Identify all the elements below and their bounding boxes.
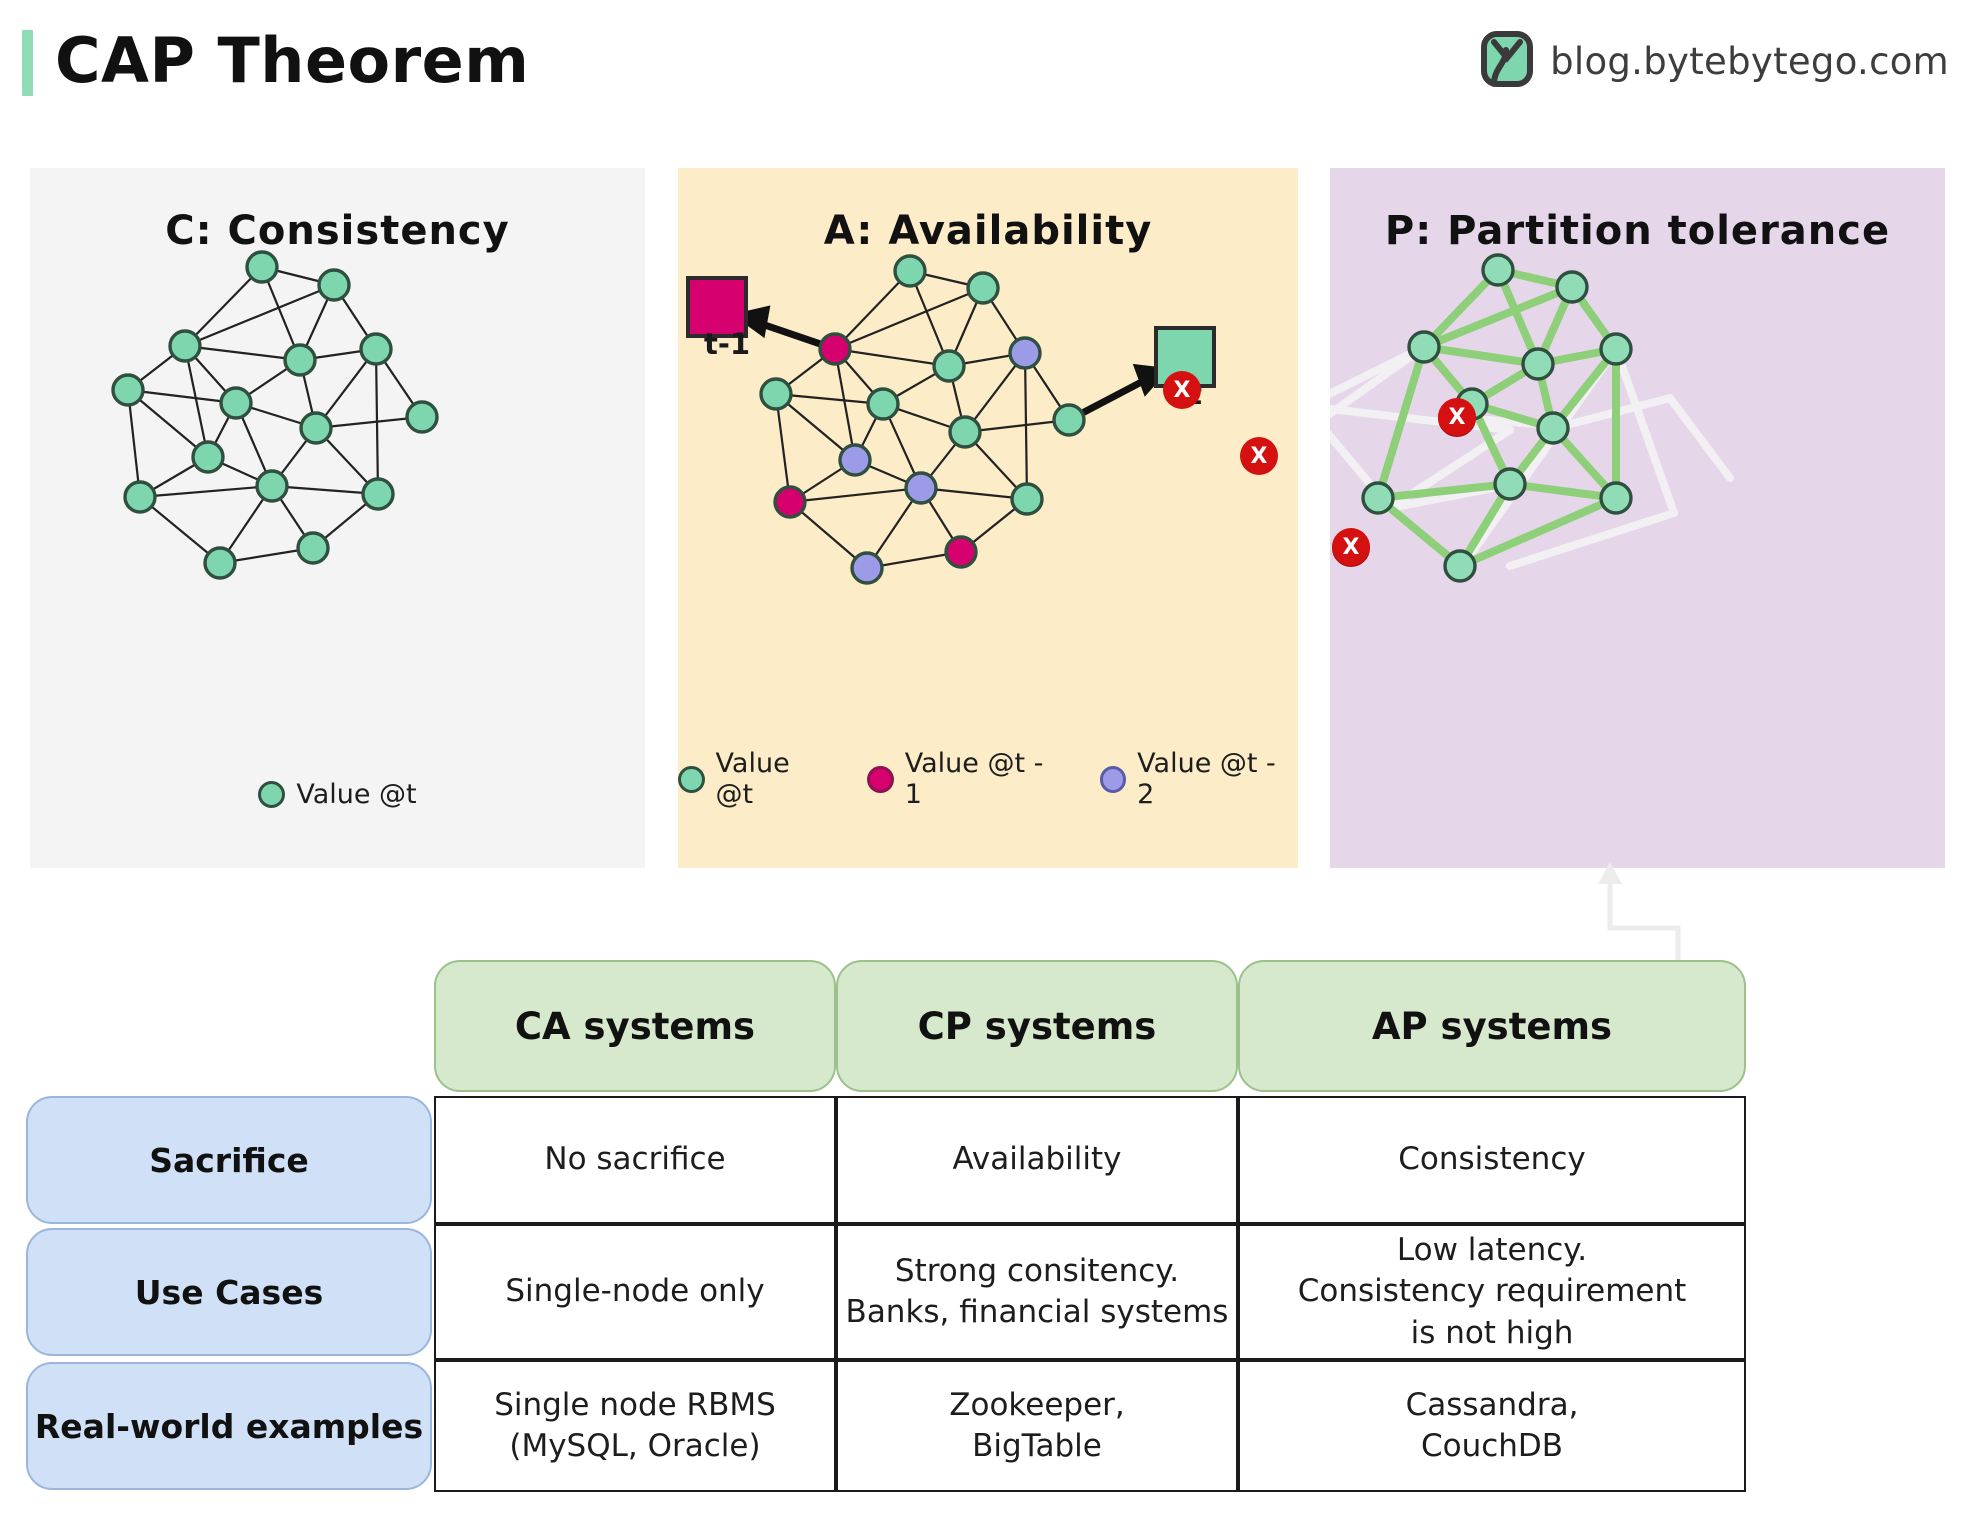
legend-dot-value-t-minus-2 <box>1100 766 1127 793</box>
panel-consistency: C: Consistency <box>30 168 645 868</box>
row-label-text: Use Cases <box>135 1273 323 1312</box>
page-header: CAP Theorem blog.bytebytego.com <box>0 0 1975 120</box>
cell-text: Consistency <box>1398 1139 1585 1180</box>
legend-dot-value-t <box>258 781 285 808</box>
fault-marker-x: X <box>1332 528 1370 566</box>
fault-marker-x: X <box>1240 437 1278 475</box>
column-header-cp: CP systems <box>836 960 1238 1092</box>
cell-sacrifice-ap: Consistency <box>1238 1096 1746 1224</box>
comparison-matrix: CA systems CP systems AP systems Sacrifi… <box>20 960 1960 1520</box>
panel-availability: A: Availability <box>678 168 1298 868</box>
cell-examples-ap: Cassandra,CouchDB <box>1238 1360 1746 1492</box>
legend-dot-value-t-minus-1 <box>867 766 894 793</box>
cell-sacrifice-cp: Availability <box>836 1096 1238 1224</box>
cell-use-cases-ca: Single-node only <box>434 1224 836 1360</box>
legend-item: Value @t <box>258 779 416 810</box>
cell-text: Low latency.Consistency requirementis no… <box>1298 1230 1687 1354</box>
brand-block: blog.bytebytego.com <box>1480 30 1949 92</box>
column-header-label: AP systems <box>1372 1005 1612 1048</box>
brand-label: blog.bytebytego.com <box>1550 40 1949 83</box>
cell-examples-cp: Zookeeper,BigTable <box>836 1360 1238 1492</box>
cell-text: Availability <box>953 1139 1122 1180</box>
page-title: CAP Theorem <box>55 22 529 100</box>
row-label-real-world-examples: Real-world examples <box>26 1362 432 1490</box>
title-accent-bar <box>22 30 33 96</box>
consistency-graph <box>30 168 645 868</box>
cell-text: Single-node only <box>505 1271 764 1312</box>
bytebytego-logo-icon <box>1480 30 1534 92</box>
cell-sacrifice-ca: No sacrifice <box>434 1096 836 1224</box>
cell-examples-ca: Single node RBMS(MySQL, Oracle) <box>434 1360 836 1492</box>
fault-marker-x: X <box>1163 371 1201 409</box>
legend-item: Value @t <box>678 748 833 810</box>
consistency-legend: Value @t <box>30 779 645 810</box>
row-label-text: Sacrifice <box>149 1141 309 1180</box>
column-header-label: CA systems <box>515 1005 755 1048</box>
cell-text: Single node RBMS(MySQL, Oracle) <box>494 1385 776 1467</box>
badge-t-minus-1-label: t-1 <box>698 315 756 373</box>
cell-text: Cassandra,CouchDB <box>1406 1385 1579 1467</box>
column-header-ca: CA systems <box>434 960 836 1092</box>
column-header-ap: AP systems <box>1238 960 1746 1092</box>
legend-label: Value @t - 1 <box>905 748 1066 810</box>
legend-dot-value-t <box>678 766 705 793</box>
availability-legend: Value @t Value @t - 1 Value @t - 2 <box>678 748 1298 810</box>
cell-use-cases-ap: Low latency.Consistency requirementis no… <box>1238 1224 1746 1360</box>
legend-item: Value @t - 1 <box>867 748 1065 810</box>
legend-label: Value @t <box>716 748 834 810</box>
row-label-use-cases: Use Cases <box>26 1228 432 1356</box>
fault-marker-x: X <box>1438 398 1476 436</box>
legend-label: Value @t - 2 <box>1137 748 1298 810</box>
partition-graph <box>1330 168 1945 868</box>
legend-label: Value @t <box>296 779 416 810</box>
row-label-sacrifice: Sacrifice <box>26 1096 432 1224</box>
panel-partition-tolerance: P: Partition tolerance <box>1330 168 1945 868</box>
column-header-label: CP systems <box>918 1005 1157 1048</box>
cell-use-cases-cp: Strong consitency.Banks, financial syste… <box>836 1224 1238 1360</box>
cell-text: Zookeeper,BigTable <box>949 1385 1125 1467</box>
cell-text: Strong consitency.Banks, financial syste… <box>846 1251 1229 1333</box>
cell-text: No sacrifice <box>544 1139 725 1180</box>
legend-item: Value @t - 2 <box>1100 748 1298 810</box>
row-label-text: Real-world examples <box>35 1407 423 1446</box>
